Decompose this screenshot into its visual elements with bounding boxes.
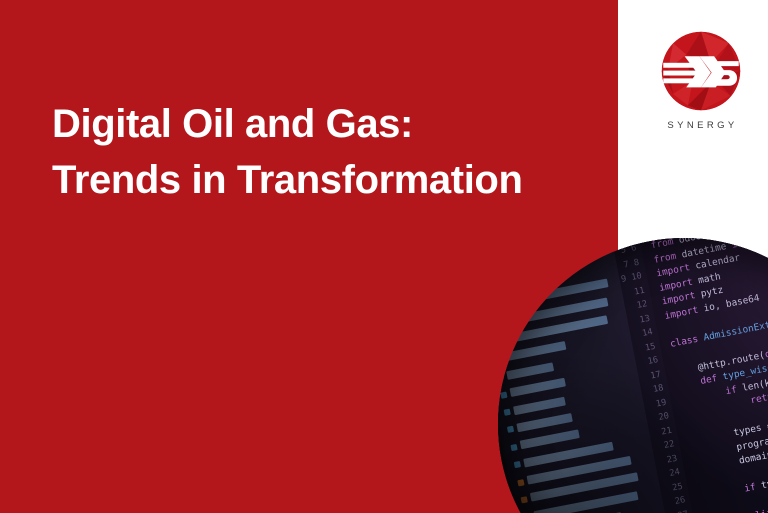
logo-wordmark: SYNERGY [655,120,747,131]
code-photo-circle: 1 2 3 4 5 6 7 8 9 10 11 12 13 14 15 16 1… [498,238,768,513]
brand-logo: SYNERGY [655,30,747,142]
editor-icon [498,454,500,477]
slide-canvas: Digital Oil and Gas: Trends in Transform… [0,0,768,513]
code-editor-image: 1 2 3 4 5 6 7 8 9 10 11 12 13 14 15 16 1… [498,238,768,513]
exs-logo-icon [660,30,742,112]
file-icon [517,479,524,486]
file-icon [500,391,507,398]
page-title: Digital Oil and Gas: Trends in Transform… [52,96,592,208]
file-icon [510,444,517,451]
title-line-2: Trends in Transformation [52,152,592,208]
file-name-label [506,362,554,380]
file-name-label [498,255,542,274]
file-icon [514,461,521,468]
terminal-icon [498,481,505,504]
file-icon [498,374,504,381]
file-icon [498,356,501,363]
file-icon [507,426,514,433]
settings-icon [498,508,510,513]
title-line-1: Digital Oil and Gas: [52,96,592,152]
file-icon [504,409,511,416]
file-icon [521,496,528,503]
